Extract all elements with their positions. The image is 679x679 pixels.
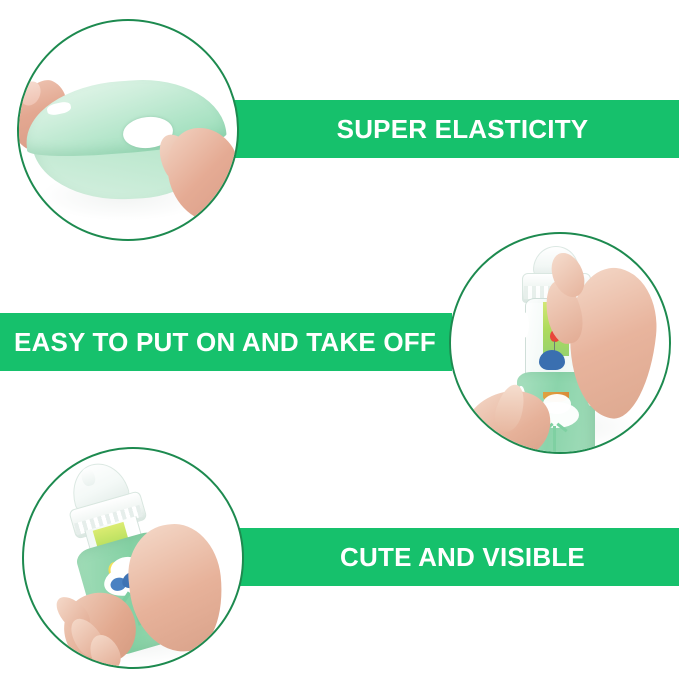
feature-banner-easy-on-off: EASY TO PUT ON AND TAKE OFF <box>0 313 452 371</box>
elephant-graphic <box>539 350 565 370</box>
feature-photo-easy-on-off <box>449 232 671 454</box>
bottle-waist-left <box>519 312 529 338</box>
tree-graphic-trunk <box>553 426 556 452</box>
feature-banner-label: SUPER ELASTICITY <box>323 114 589 145</box>
photo-content-stretching-sleeve <box>19 21 237 239</box>
feature-photo-cute-visible <box>22 447 244 669</box>
photo-content-sleeve-on-bottle <box>451 234 669 452</box>
feature-banner-cute-visible: CUTE AND VISIBLE <box>232 528 679 586</box>
feature-banner-label: EASY TO PUT ON AND TAKE OFF <box>0 327 436 358</box>
feature-banner-super-elasticity: SUPER ELASTICITY <box>232 100 679 158</box>
feature-banner-label: CUTE AND VISIBLE <box>326 542 585 573</box>
infographic-canvas: SUPER ELASTICITY EASY TO PUT ON AND TAKE… <box>0 0 679 679</box>
tilted-bottle-scene <box>24 449 242 667</box>
photo-content-bottle-in-hand <box>24 449 242 667</box>
feature-photo-super-elasticity <box>17 19 239 241</box>
